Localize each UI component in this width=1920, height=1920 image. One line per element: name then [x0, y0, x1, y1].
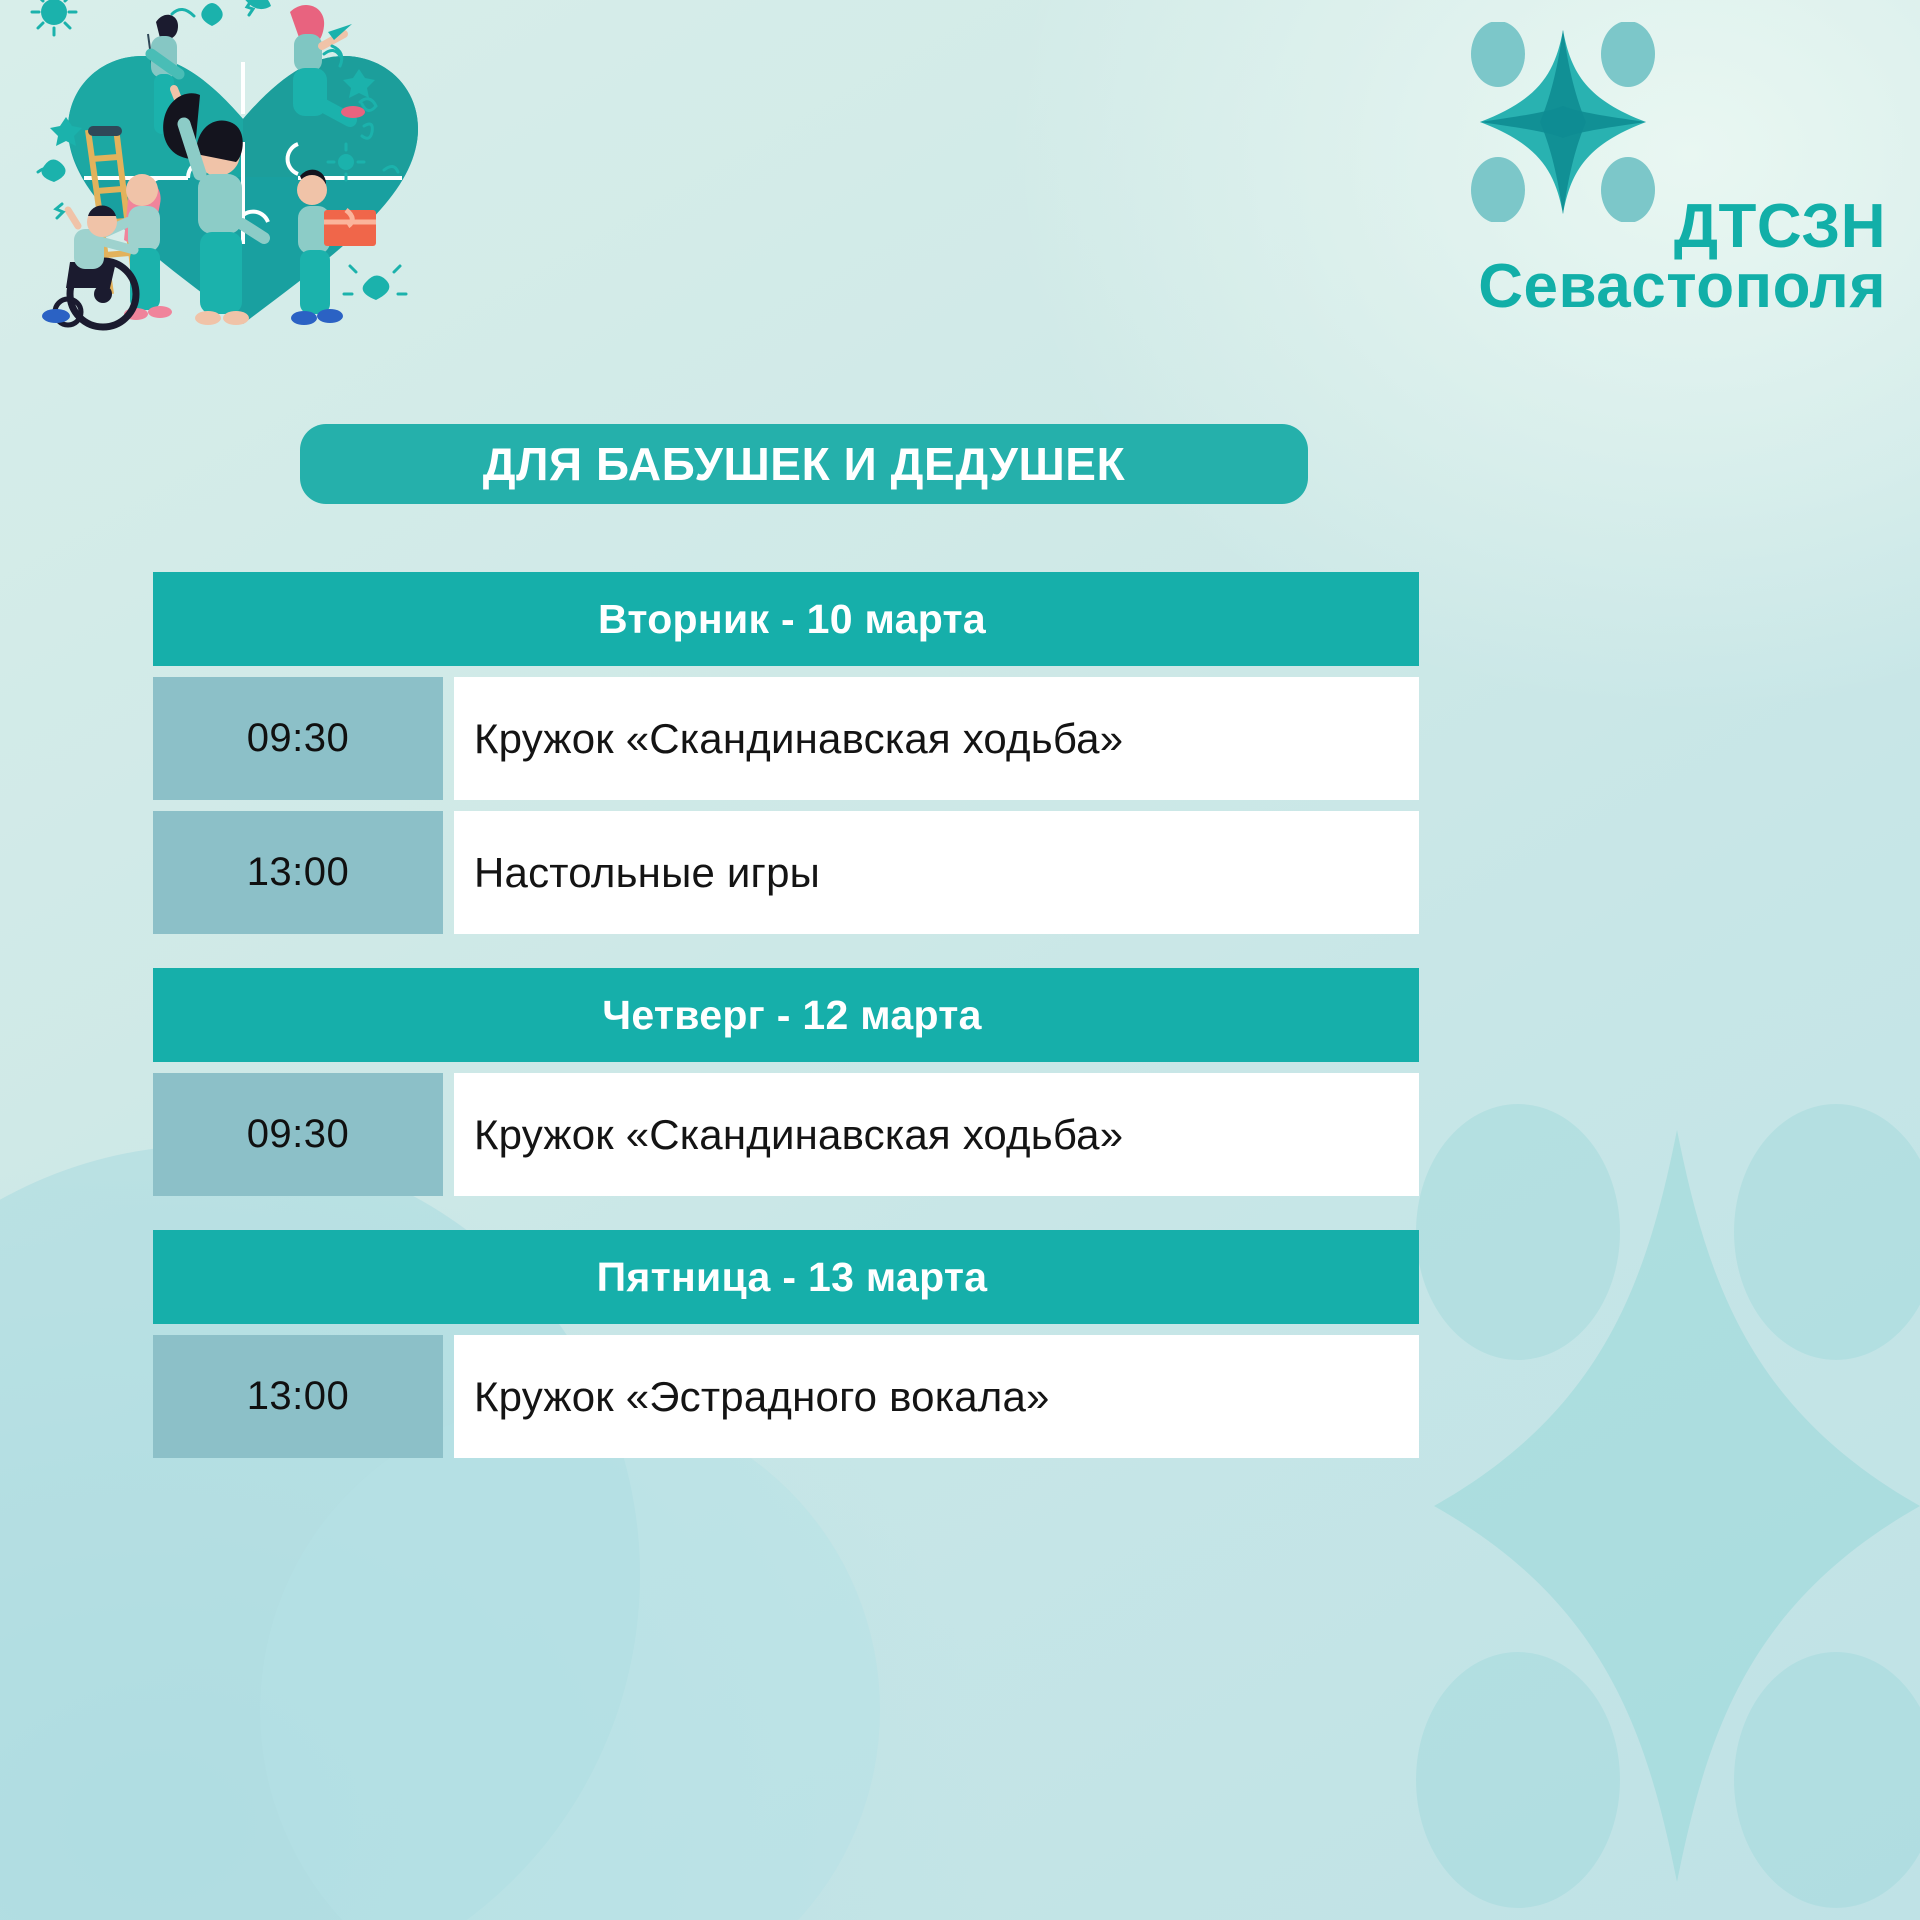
schedule-row: 09:30Кружок «Скандинавская ходьба»	[153, 1073, 1419, 1196]
day-header-title: Пятница - 13 марта	[597, 1254, 988, 1301]
schedule-table: Вторник - 10 марта09:30Кружок «Скандинав…	[153, 572, 1419, 1458]
cell-gap	[443, 677, 454, 800]
schedule-time-cell: 13:00	[153, 811, 443, 934]
schedule-activity-cell: Кружок «Скандинавская ходьба»	[454, 1073, 1419, 1196]
schedule-time-cell: 09:30	[153, 1073, 443, 1196]
day-header: Четверг - 12 марта	[153, 968, 1419, 1062]
four-point-star-logo-icon	[1468, 22, 1658, 222]
schedule-row: 09:30Кружок «Скандинавская ходьба»	[153, 677, 1419, 800]
page-title: ДЛЯ БАБУШЕК И ДЕДУШЕК	[483, 437, 1126, 491]
row-spacer	[153, 1062, 1419, 1073]
section-spacer	[153, 934, 1419, 968]
schedule-row: 13:00Настольные игры	[153, 811, 1419, 934]
row-spacer	[153, 1324, 1419, 1335]
day-header: Вторник - 10 марта	[153, 572, 1419, 666]
poster-canvas: ДТСЗН Севастополя ДЛЯ БАБУШЕК И ДЕДУШЕК …	[0, 0, 1920, 1920]
cell-gap	[443, 1073, 454, 1196]
schedule-time-cell: 13:00	[153, 1335, 443, 1458]
schedule-activity-cell: Настольные игры	[454, 811, 1419, 934]
row-spacer	[153, 800, 1419, 811]
logo-text-line1: ДТСЗН	[1246, 196, 1886, 258]
schedule-activity-cell: Кружок «Эстрадного вокала»	[454, 1335, 1419, 1458]
background-blob-bottom-left-2	[260, 1400, 880, 1920]
people-puzzle-heart-illustration	[8, 0, 478, 354]
cell-gap	[443, 811, 454, 934]
cell-gap	[443, 1335, 454, 1458]
day-section: Четверг - 12 марта09:30Кружок «Скандинав…	[153, 968, 1419, 1196]
logo-text-line2: Севастополя	[1246, 256, 1886, 318]
page-title-banner: ДЛЯ БАБУШЕК И ДЕДУШЕК	[300, 424, 1308, 504]
schedule-row: 13:00Кружок «Эстрадного вокала»	[153, 1335, 1419, 1458]
day-header-title: Четверг - 12 марта	[602, 992, 982, 1039]
day-section: Вторник - 10 марта09:30Кружок «Скандинав…	[153, 572, 1419, 934]
schedule-activity-cell: Кружок «Скандинавская ходьба»	[454, 677, 1419, 800]
day-section: Пятница - 13 марта13:00Кружок «Эстрадног…	[153, 1230, 1419, 1458]
row-spacer	[153, 666, 1419, 677]
organization-logo: ДТСЗН Севастополя	[1246, 8, 1886, 338]
day-header-title: Вторник - 10 марта	[598, 596, 986, 643]
schedule-time-cell: 09:30	[153, 677, 443, 800]
section-spacer	[153, 1196, 1419, 1230]
day-header: Пятница - 13 марта	[153, 1230, 1419, 1324]
